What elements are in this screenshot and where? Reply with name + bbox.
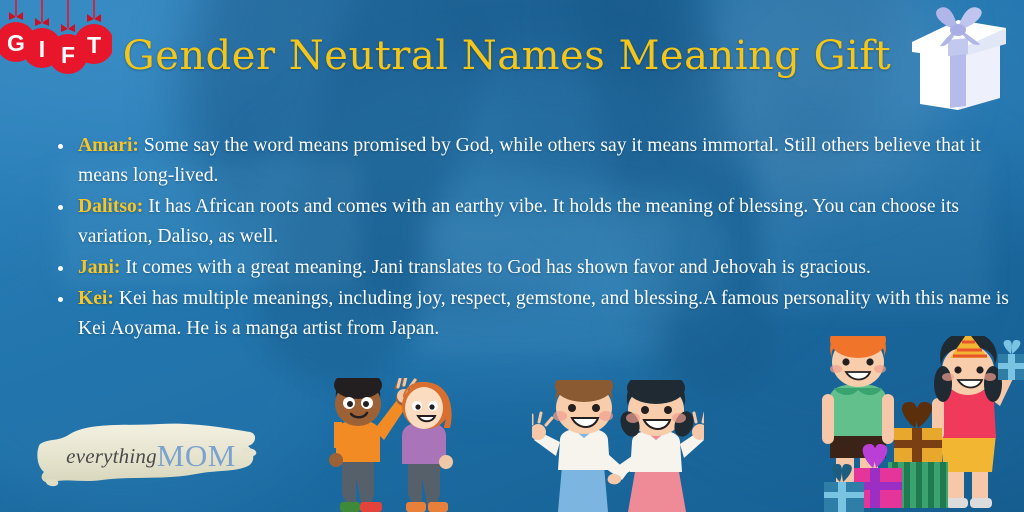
name-description: Some say the word means promised by God,…: [78, 135, 981, 186]
infographic-canvas: G I F T Gender Neutral: [0, 0, 1024, 512]
svg-text:T: T: [87, 32, 101, 58]
name-description: Kei has multiple meanings, including joy…: [78, 288, 1009, 339]
list-item: Kei: Kei has multiple meanings, includin…: [78, 284, 1022, 344]
name-description: It has African roots and comes with an e…: [78, 196, 959, 247]
gift-ornaments-decoration: G I F T: [0, 0, 112, 78]
gift-box-icon: [896, 4, 1018, 112]
list-item: Jani: It comes with a great meaning. Jan…: [78, 253, 1022, 283]
names-list: Amari: Some say the word means promised …: [46, 131, 1022, 345]
logo-mom-text: MOM: [157, 438, 236, 474]
name-term: Jani:: [78, 257, 120, 278]
name-description: It comes with a great meaning. Jani tran…: [125, 257, 870, 278]
svg-text:F: F: [61, 42, 75, 68]
list-item: Amari: Some say the word means promised …: [78, 131, 1022, 191]
children-holding-hands-illustration: [532, 380, 704, 512]
svg-text:I: I: [39, 36, 45, 62]
name-term: Kei:: [78, 288, 114, 309]
everythingmom-logo[interactable]: everythingMOM: [36, 414, 260, 498]
logo-everything-text: everything: [66, 444, 157, 469]
page-title: Gender Neutral Names Meaning Gift: [112, 30, 902, 82]
list-item: Dalitso: It has African roots and comes …: [78, 192, 1022, 252]
svg-text:G: G: [7, 30, 25, 56]
name-term: Amari:: [78, 135, 139, 156]
children-with-gifts-illustration: [812, 336, 1024, 512]
children-high-five-illustration: [304, 378, 464, 512]
logo-wordmark: everythingMOM: [36, 414, 260, 498]
name-term: Dalitso:: [78, 196, 143, 217]
